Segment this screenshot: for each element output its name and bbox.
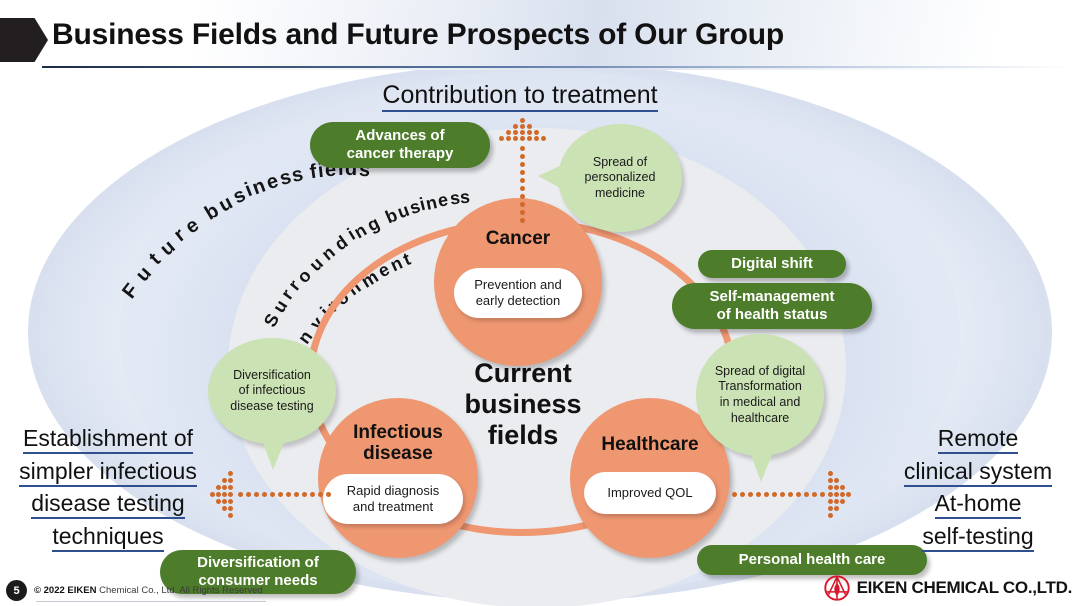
badge-digital-shift[interactable]: Digital shift	[698, 250, 846, 278]
bubble-sdt-l1: Spread of digital	[715, 364, 805, 380]
circle-cancer[interactable]: Cancer Prevention and early detection	[434, 198, 602, 366]
arrow-dot	[840, 499, 845, 504]
circle-infectious-disease-title: Infectious disease	[318, 422, 478, 465]
ohl-l2: simpler infectious	[19, 458, 197, 487]
arrow-dot	[527, 130, 532, 135]
header-divider	[42, 66, 1072, 68]
dotted-arrow-left	[208, 470, 336, 516]
arrow-dot	[318, 492, 323, 497]
arrow-dot	[506, 136, 511, 141]
outer-heading-left: Establishment of simpler infectious dise…	[8, 422, 208, 553]
arrow-dot	[520, 162, 525, 167]
arrow-dot	[262, 492, 267, 497]
bubble-spm-l1: Spread of	[585, 155, 656, 171]
arrow-dot	[840, 492, 845, 497]
arrow-dot	[828, 506, 833, 511]
arrow-dot	[228, 478, 233, 483]
bubble-spread-of-digital-transformation: Spread of digital Transformation in medi…	[696, 334, 824, 456]
arrow-dot	[506, 130, 511, 135]
ohl-l1: Establishment of	[23, 425, 193, 454]
arrow-dot	[278, 492, 283, 497]
bubble-didt-l3: disease testing	[230, 399, 313, 415]
ohr-l4: self-testing	[922, 523, 1033, 552]
top-heading: Contribution to treatment	[310, 78, 730, 114]
arrow-dot	[513, 136, 518, 141]
arrow-dot	[520, 186, 525, 191]
arrow-dot	[740, 492, 745, 497]
arrow-dot	[834, 478, 839, 483]
arrow-dot	[520, 194, 525, 199]
arrow-dot	[222, 478, 227, 483]
arrow-dot	[846, 492, 851, 497]
arrow-dot	[216, 499, 221, 504]
arrow-dot	[527, 124, 532, 129]
arrow-dot	[238, 492, 243, 497]
arrow-dot	[834, 492, 839, 497]
bubble-spread-of-personalized-medicine: Spread of personalized medicine	[558, 124, 682, 232]
ohr-l3: At-home	[935, 490, 1022, 519]
arrow-dot	[513, 124, 518, 129]
arrow-dot	[216, 492, 221, 497]
arrow-dot	[788, 492, 793, 497]
arrow-dot	[796, 492, 801, 497]
arrow-dot	[534, 130, 539, 135]
arrow-dot	[286, 492, 291, 497]
ohl-l3: disease testing	[31, 490, 184, 519]
brand-name: EIKEN CHEMICAL CO.,LTD.	[857, 578, 1072, 598]
bubble-spm-l2: personalized	[585, 170, 656, 186]
badge-act-l1: Advances of	[347, 127, 454, 145]
circle-cancer-title: Cancer	[434, 228, 602, 249]
arrow-dot	[326, 492, 331, 497]
arrow-dot	[828, 492, 833, 497]
arrow-dot	[804, 492, 809, 497]
bubble-didt-l2: of infectious	[230, 383, 313, 399]
arrow-dot	[828, 499, 833, 504]
eiken-globe-logo-icon	[824, 575, 850, 601]
arrow-dot	[520, 178, 525, 183]
arrow-dot	[222, 499, 227, 504]
badge-dcn-l1: Diversification of	[197, 554, 319, 572]
arrow-dot	[254, 492, 259, 497]
arrow-dot	[520, 210, 525, 215]
circle-healthcare-title: Healthcare	[570, 434, 730, 455]
page-number-badge: 5	[6, 580, 27, 601]
page-title: Business Fields and Future Prospects of …	[52, 18, 784, 52]
bubble-spm-l3: medicine	[585, 186, 656, 202]
arrow-dot	[820, 492, 825, 497]
circle-id-title-l1: Infectious	[318, 422, 478, 443]
copyright-bold: © 2022 EIKEN	[34, 585, 96, 596]
arrow-dot	[210, 492, 215, 497]
arrow-dot	[748, 492, 753, 497]
arrow-dot	[541, 136, 546, 141]
copyright-rest: Chemical Co., Ltd. All Rights Reserved	[96, 585, 262, 596]
arrow-dot	[520, 170, 525, 175]
arrow-dot	[246, 492, 251, 497]
top-heading-text: Contribution to treatment	[382, 81, 657, 112]
badge-smhs-l2: of health status	[709, 306, 834, 324]
arrow-dot	[834, 506, 839, 511]
badge-act-l2: cancer therapy	[347, 145, 454, 163]
circle-healthcare-pill-text: Improved QOL	[607, 485, 692, 501]
arrow-dot	[828, 471, 833, 476]
badge-digital-shift-label: Digital shift	[731, 255, 813, 273]
arrow-dot	[828, 478, 833, 483]
dotted-arrow-right	[730, 470, 858, 516]
slide-root: Business Fields and Future Prospects of …	[0, 0, 1080, 606]
bubble-sdt-l3: in medical and	[715, 395, 805, 411]
arrow-dot	[520, 130, 525, 135]
arrow-dot	[840, 485, 845, 490]
arrow-dot	[520, 124, 525, 129]
circle-healthcare-pill: Improved QOL	[584, 472, 716, 514]
circle-cancer-pill: Prevention and early detection	[454, 268, 582, 318]
arrow-dot	[520, 146, 525, 151]
footer-divider	[36, 601, 266, 602]
bubble-tail-icon	[262, 440, 285, 470]
arrow-dot	[499, 136, 504, 141]
arrow-dot	[294, 492, 299, 497]
ohr-l2: clinical system	[904, 458, 1052, 487]
arrow-dot	[520, 202, 525, 207]
circle-cancer-pill-l1: Prevention and	[474, 277, 561, 293]
arrow-dot	[513, 130, 518, 135]
arrow-dot	[772, 492, 777, 497]
arrow-dot	[732, 492, 737, 497]
ohl-l4: techniques	[52, 523, 163, 552]
bubble-didt-l1: Diversification	[230, 368, 313, 384]
arrow-dot	[828, 513, 833, 518]
arrow-dot	[527, 136, 532, 141]
arrow-dot	[834, 499, 839, 504]
arrow-dot	[222, 506, 227, 511]
bubble-sdt-l2: Transformation	[715, 379, 805, 395]
brand-lockup: EIKEN CHEMICAL CO.,LTD.	[824, 575, 1072, 601]
arrow-dot	[228, 506, 233, 511]
arrow-dot	[302, 492, 307, 497]
arrow-dot	[228, 492, 233, 497]
arrow-dot	[310, 492, 315, 497]
arrow-dot	[534, 136, 539, 141]
arrow-dot	[756, 492, 761, 497]
badge-advances-of-cancer-therapy[interactable]: Advances of cancer therapy	[310, 122, 490, 168]
arrow-dot	[270, 492, 275, 497]
outer-heading-right: Remote clinical system At-home self-test…	[880, 422, 1076, 553]
arrow-dot	[520, 218, 525, 223]
arrow-dot	[520, 154, 525, 159]
arrow-dot	[222, 492, 227, 497]
arrow-dot	[228, 499, 233, 504]
arrow-dot	[228, 471, 233, 476]
circle-id-title-l2: disease	[318, 443, 478, 464]
badge-phc-label: Personal health care	[739, 551, 886, 569]
circle-cancer-pill-l2: early detection	[474, 293, 561, 309]
ohr-l1: Remote	[938, 425, 1019, 454]
arrow-dot	[520, 136, 525, 141]
circle-id-pill-l1: Rapid diagnosis	[347, 483, 440, 499]
badge-smhs-l1: Self-management	[709, 288, 834, 306]
arrow-dot	[216, 485, 221, 490]
dotted-arrow-up	[492, 116, 552, 206]
bubble-sdt-l4: healthcare	[715, 411, 805, 427]
arrow-dot	[228, 513, 233, 518]
copyright-text: © 2022 EIKEN Chemical Co., Ltd. All Righ…	[34, 585, 263, 596]
arrow-dot	[228, 485, 233, 490]
circle-infectious-disease-pill: Rapid diagnosis and treatment	[323, 474, 463, 524]
arrow-dot	[812, 492, 817, 497]
circle-infectious-disease[interactable]: Infectious disease Rapid diagnosis and t…	[318, 398, 478, 558]
arrow-dot	[764, 492, 769, 497]
arrow-dot	[222, 485, 227, 490]
arrow-dot	[828, 485, 833, 490]
circle-id-pill-l2: and treatment	[347, 499, 440, 515]
arrow-dot	[780, 492, 785, 497]
badge-self-management-of-health-status[interactable]: Self-management of health status	[672, 283, 872, 329]
arrow-dot	[834, 485, 839, 490]
bubble-diversification-of-infectious-disease-testing: Diversification of infectious disease te…	[208, 338, 336, 444]
arrow-dot	[520, 118, 525, 123]
